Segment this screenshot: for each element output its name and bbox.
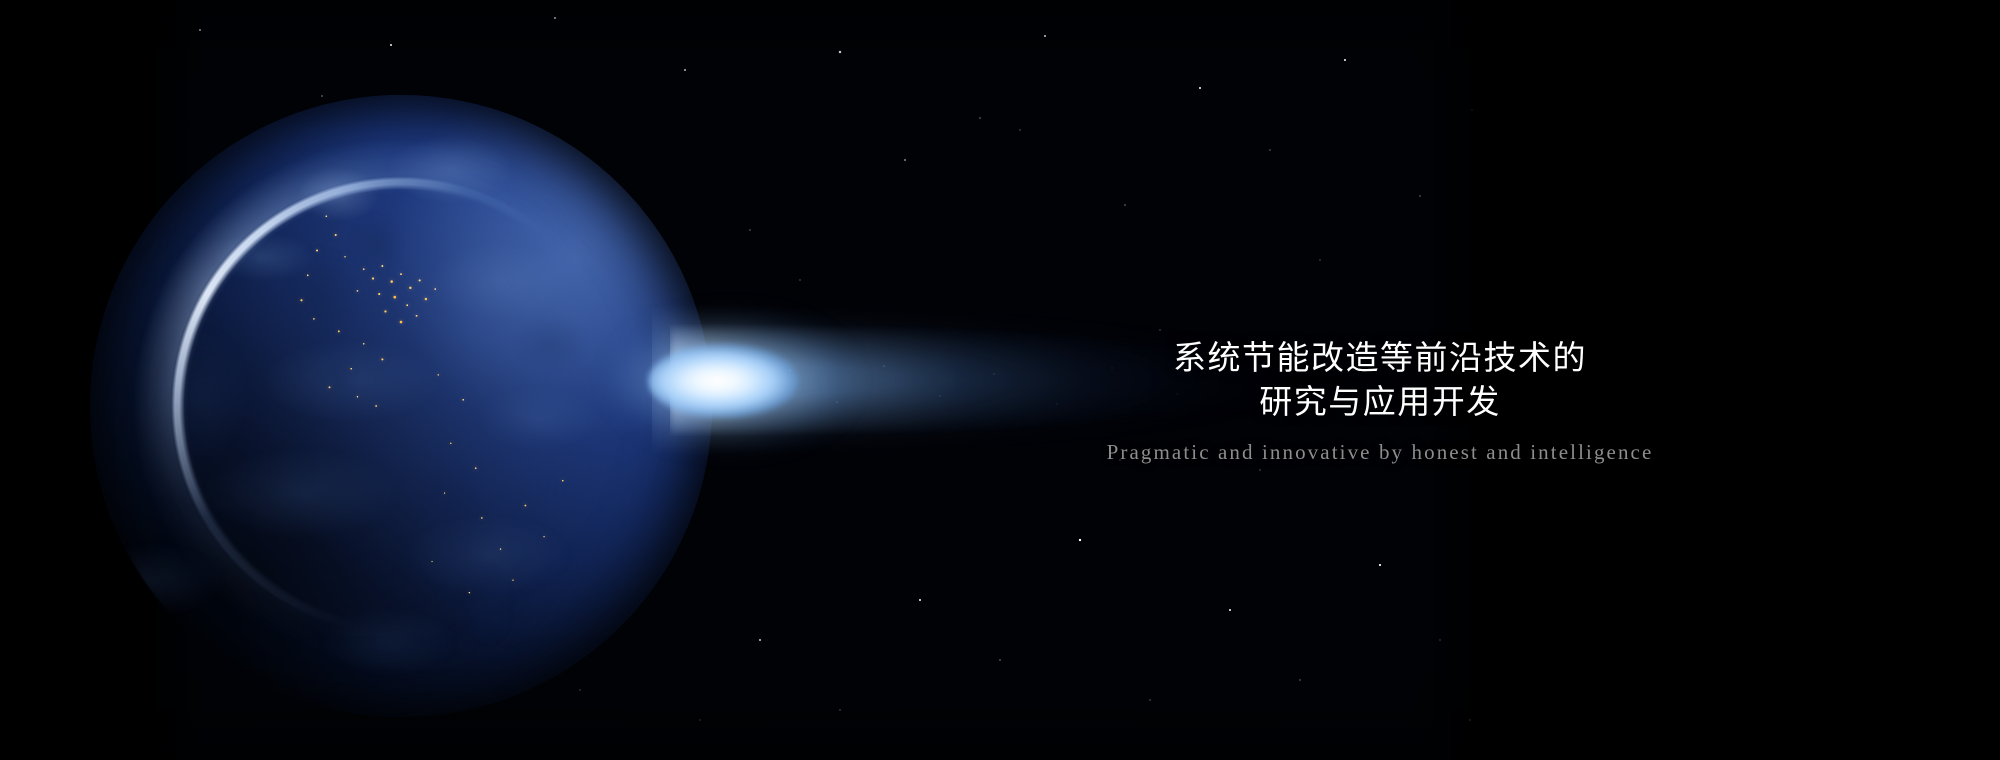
earth-globe	[90, 95, 712, 717]
headline-line-1: 系统节能改造等前沿技术的	[940, 336, 1820, 380]
headline-subline: Pragmatic and innovative by honest and i…	[940, 439, 1820, 465]
headline-line-2: 研究与应用开发	[940, 380, 1820, 424]
earth-atmosphere-rim	[85, 90, 717, 722]
hero-text-block: 系统节能改造等前沿技术的 研究与应用开发 Pragmatic and innov…	[940, 336, 1820, 465]
hero-banner: 系统节能改造等前沿技术的 研究与应用开发 Pragmatic and innov…	[0, 0, 2000, 760]
